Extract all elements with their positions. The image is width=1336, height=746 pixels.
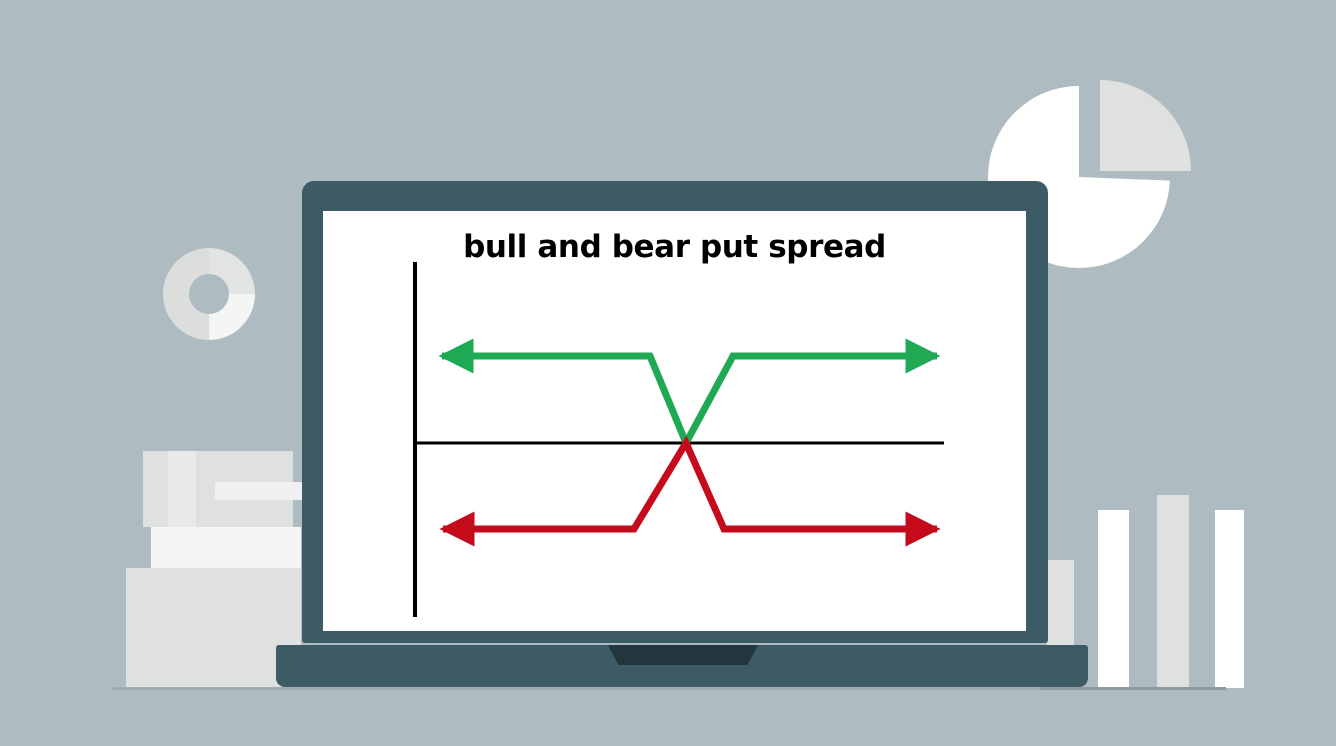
book-stripe-light xyxy=(168,451,196,527)
donut-chart-decoration xyxy=(163,248,255,340)
bar-chart-bar-4 xyxy=(1215,510,1244,688)
book-label-strip xyxy=(215,482,305,500)
ground-line-shadow xyxy=(1040,687,1226,690)
donut-hole xyxy=(189,274,229,314)
laptop-screen: bull and bear put spread xyxy=(323,211,1026,631)
series-line-bear-put-spread xyxy=(443,443,937,529)
bar-chart-bar-3 xyxy=(1157,495,1189,688)
payoff-diagram xyxy=(323,211,1026,631)
laptop-trackpad-notch xyxy=(608,645,758,665)
illustration-scene: bull and bear put spread xyxy=(0,0,1336,746)
book-stack-bottom xyxy=(126,568,301,688)
bar-chart-bar-2 xyxy=(1098,510,1129,688)
series-line-bull-put-spread xyxy=(442,356,937,443)
book-stack-middle xyxy=(151,527,301,568)
